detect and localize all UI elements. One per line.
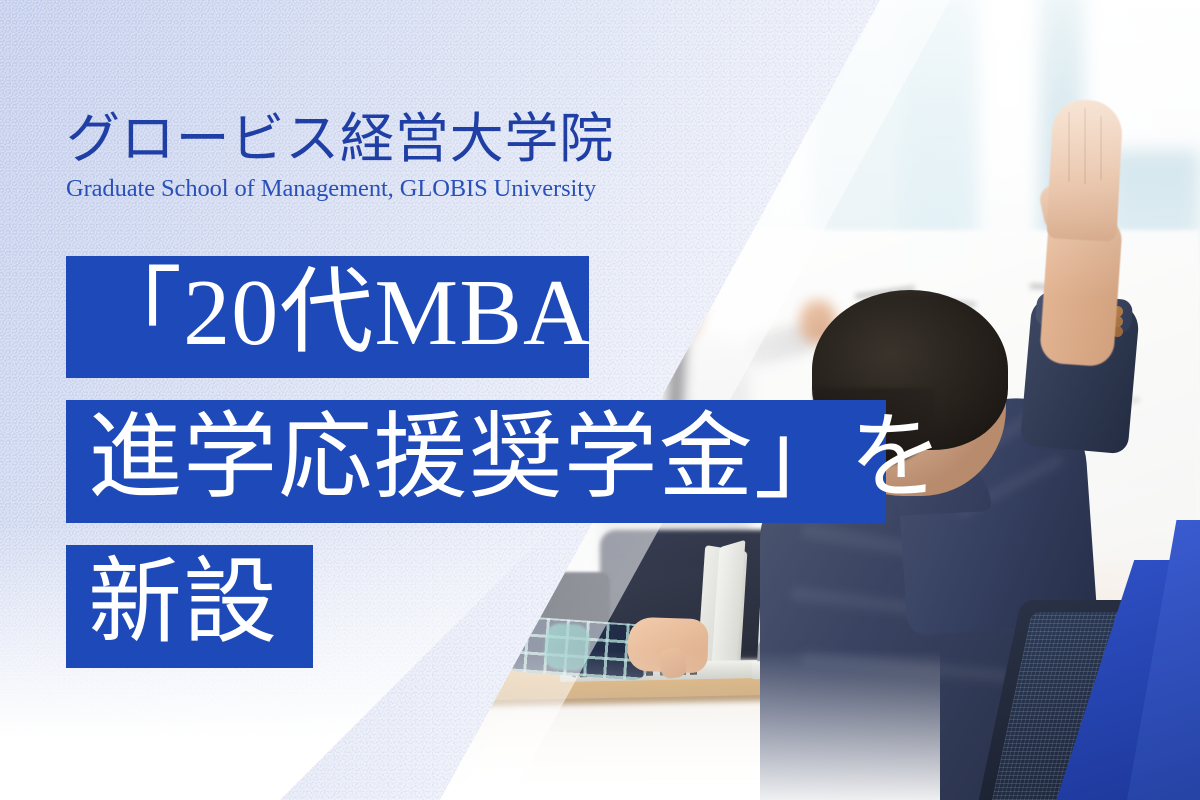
banner-stage: グロービス経営大学院 Graduate School of Management…: [0, 0, 1200, 800]
finger-separation-line: [1068, 112, 1070, 182]
headline-line-2: 進学応援奨学金」を: [66, 400, 886, 523]
headline-line-3: 新設: [66, 545, 313, 668]
logo-english-name: Graduate School of Management, GLOBIS Un…: [66, 177, 686, 202]
headline-line-2-text: 進学応援奨学金」を: [88, 411, 944, 505]
headline-line-3-text: 新設: [88, 556, 278, 650]
headline-line-1: 「20代MBA: [66, 256, 589, 378]
finger-separation-line: [1100, 116, 1102, 180]
finger-separation-line: [1084, 108, 1086, 184]
logo-japanese-name: グロービス経営大学院: [66, 112, 686, 166]
headline-line-1-text: 「20代MBA: [88, 266, 592, 360]
plaid-pattern: [543, 623, 590, 672]
typing-finger: [658, 646, 688, 679]
globis-logo: グロービス経営大学院 Graduate School of Management…: [66, 112, 686, 202]
